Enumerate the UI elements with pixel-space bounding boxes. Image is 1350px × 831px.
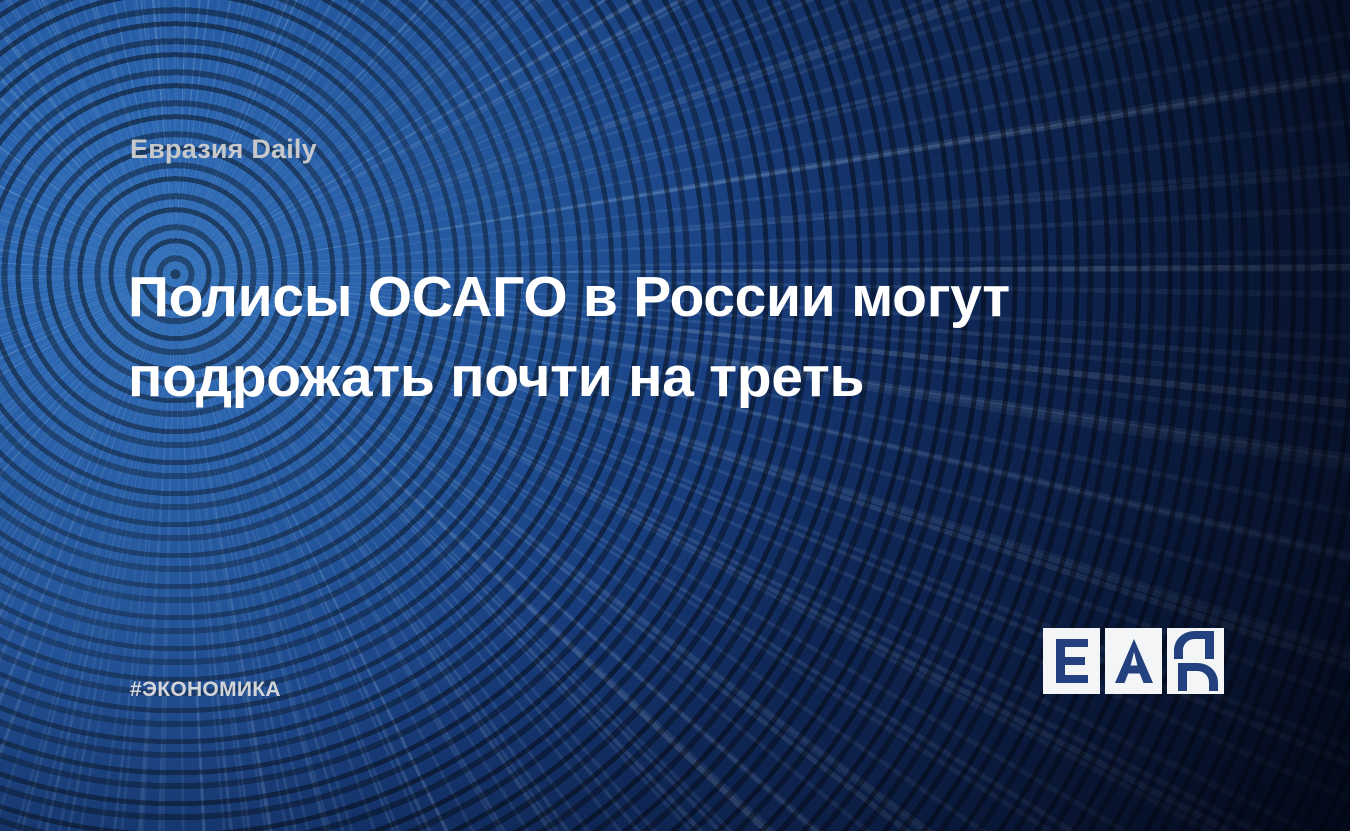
logo-tile-d: [1167, 628, 1224, 694]
letter-e-icon: [1052, 637, 1092, 685]
logo-tile-e: [1043, 628, 1100, 694]
page-title: Полисы ОСАГО в России могут подрожать по…: [128, 258, 1028, 418]
category-tag[interactable]: #ЭКОНОМИКА: [130, 678, 281, 702]
news-card: Евразия Daily Полисы ОСАГО в России могу…: [0, 0, 1350, 831]
headline-line-1: Полисы ОСАГО в России могут: [128, 258, 1028, 338]
split-letter-d-icon: [1174, 630, 1218, 692]
ead-logo[interactable]: [1043, 628, 1224, 694]
brand-name: Евразия Daily: [130, 134, 317, 165]
letter-a-icon: [1113, 637, 1155, 685]
logo-tile-a: [1105, 628, 1162, 694]
card-content: Евразия Daily Полисы ОСАГО в России могу…: [0, 0, 1350, 831]
headline-line-2: подрожать почти на треть: [128, 338, 1028, 418]
